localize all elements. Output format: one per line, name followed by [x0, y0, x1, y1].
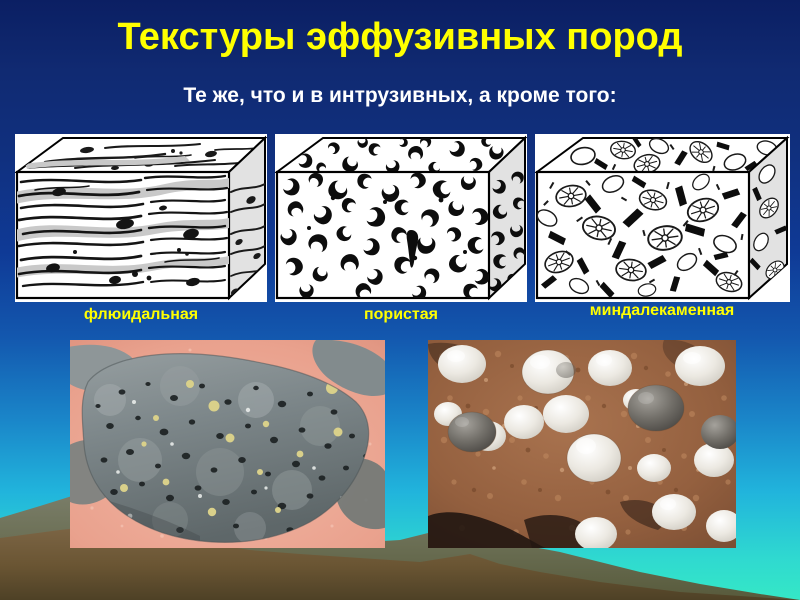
diagram-label-amygdaloidal: миндалекаменная [533, 302, 791, 320]
porous-texture-block [275, 134, 527, 302]
diagram-label-fluidal: флюидальная [15, 306, 267, 324]
photo-amygdaloidal [428, 340, 736, 548]
slide-title: Текстуры эффузивных пород [0, 18, 800, 58]
diagram-panel-porous [275, 134, 527, 302]
diagram-label-porous: пористая [275, 306, 527, 324]
diagram-panel-fluidal [15, 134, 267, 302]
fluidal-texture-block [15, 134, 267, 302]
amygdaloidal-specimen-image [428, 340, 736, 548]
diagram-panel-amygdaloidal [535, 134, 790, 302]
amygdaloidal-texture-block [535, 134, 790, 302]
scoria-specimen-image [70, 340, 385, 548]
slide-subtitle: Те же, что и в интрузивных, а кроме того… [0, 84, 800, 108]
photo-scoria [70, 340, 385, 548]
slide-canvas: Текстуры эффузивных пород Те же, что и в… [0, 0, 800, 600]
